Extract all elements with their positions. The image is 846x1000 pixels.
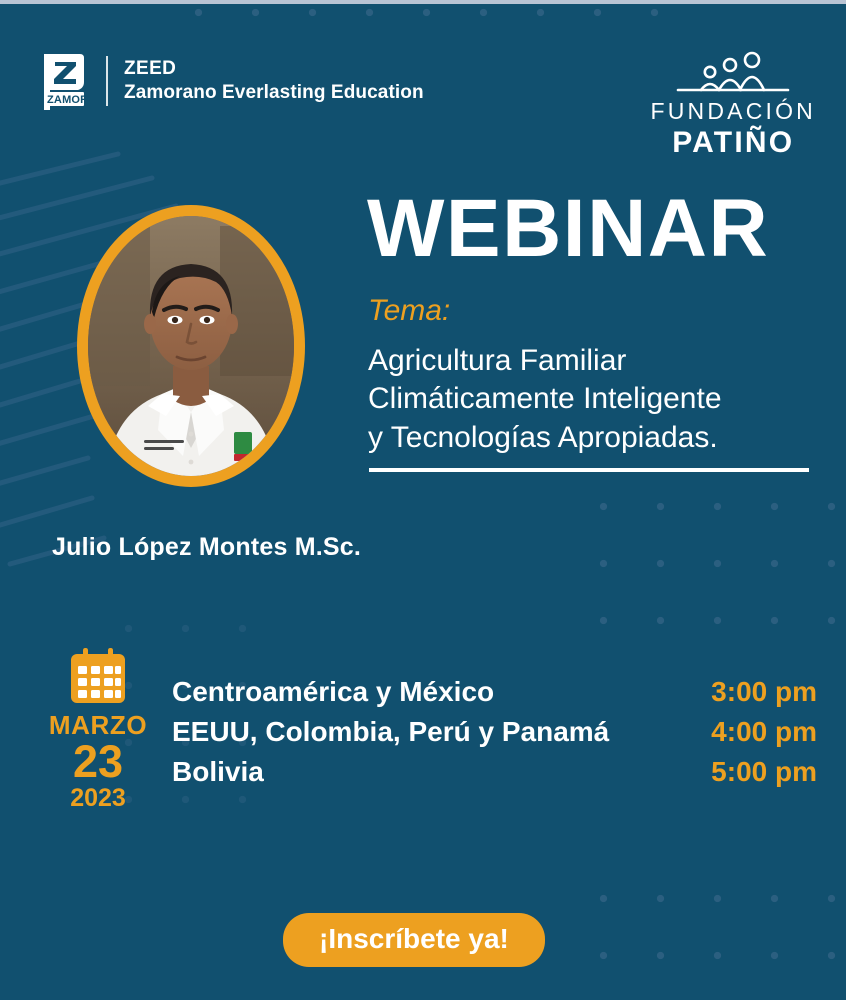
calendar-icon [68,648,128,706]
schedule-region: Centroamérica y México [172,676,494,708]
speaker-photo [88,216,294,476]
dot-pattern-top [170,0,690,58]
people-figures-icon [658,50,808,98]
schedule-region: Bolivia [172,756,264,788]
portrait-ring [77,205,305,487]
fundacion-patino-logo: FUNDACIÓN PATIÑO [650,50,816,160]
patino-line1: FUNDACIÓN [650,98,816,125]
register-button[interactable]: ¡Inscríbete ya! [283,913,545,967]
date-year: 2023 [28,786,168,811]
date-month: MARZO [28,712,168,738]
zamorano-logo-icon: ZAMORANO [34,52,90,110]
schedule-region: EEUU, Colombia, Perú y Panamá [172,716,609,748]
page-title: WEBINAR [367,188,769,270]
zeed-full-name: Zamorano Everlasting Education [124,81,424,105]
topic-divider-rule [369,468,809,472]
schedule-time: 4:00 pm [711,716,817,748]
date-day: 23 [28,739,168,785]
speaker-portrait [77,205,305,487]
dot-pattern-middle [575,478,846,658]
dot-pattern-lower [575,870,846,990]
schedule-row: EEUU, Colombia, Perú y Panamá 4:00 pm [172,716,817,748]
schedule-time: 3:00 pm [711,676,817,708]
webinar-topic: Agricultura Familiar Climáticamente Inte… [368,342,828,457]
schedule-time: 5:00 pm [711,756,817,788]
schedule-list: Centroamérica y México 3:00 pm EEUU, Col… [172,676,817,796]
zeed-abbreviation: ZEED [124,57,424,81]
svg-text:ZAMORANO: ZAMORANO [47,94,90,106]
top-edge-strip [0,0,846,4]
schedule-row: Centroamérica y México 3:00 pm [172,676,817,708]
brand-header: ZAMORANO ZEED Zamorano Everlasting Educa… [34,52,424,110]
tema-label: Tema: [368,294,450,328]
topic-line-2: Climáticamente Inteligente [368,380,828,418]
event-date-block: MARZO 23 2023 [28,648,168,811]
header-divider [106,56,108,106]
topic-line-3: y Tecnologías Apropiadas. [368,419,828,457]
zeed-brand-text: ZEED Zamorano Everlasting Education [124,57,424,105]
webinar-poster: ZAMORANO ZEED Zamorano Everlasting Educa… [0,0,846,1000]
speaker-name: Julio López Montes M.Sc. [52,533,361,562]
patino-line2: PATIÑO [650,126,816,160]
topic-line-1: Agricultura Familiar [368,342,828,380]
schedule-row: Bolivia 5:00 pm [172,756,817,788]
